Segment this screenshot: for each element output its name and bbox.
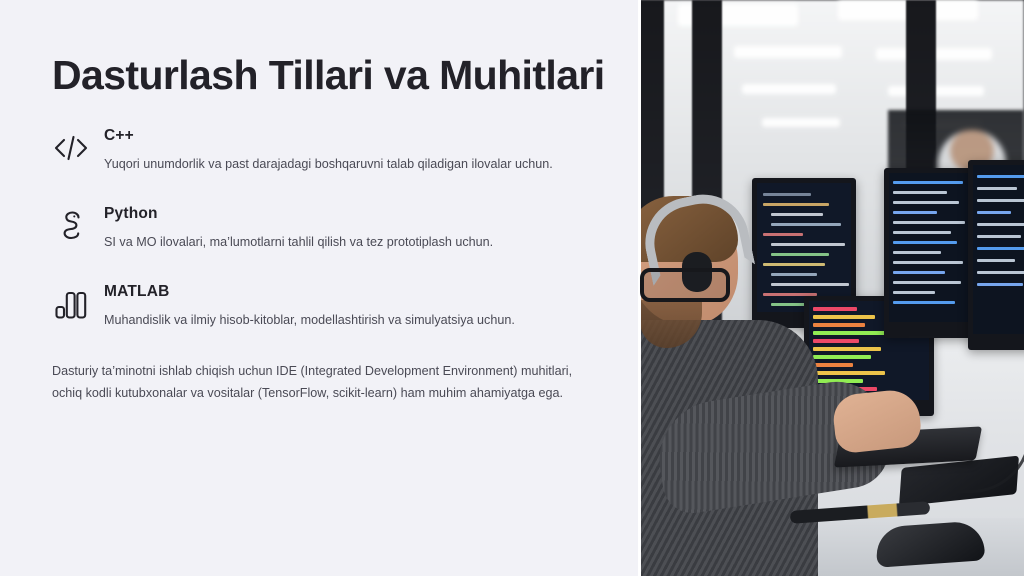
monitor-right-screen xyxy=(889,173,971,322)
ceiling-light xyxy=(742,84,836,94)
snake-icon xyxy=(52,207,90,245)
footnote-paragraph: Dasturiy ta’minotni ishlab chiqish uchun… xyxy=(52,361,592,404)
monitor-right-upper xyxy=(884,168,976,338)
language-list: C++ Yuqori unumdorlik va past darajadagi… xyxy=(52,127,638,331)
presentation-slide: Dasturlash Tillari va Muhitlari C++ Yuqo… xyxy=(0,0,1024,576)
list-item-title: MATLAB xyxy=(104,283,638,300)
person-hand xyxy=(831,388,923,455)
ceiling-light xyxy=(734,46,842,58)
list-item-python: Python SI va MO ilovalari, ma’lumotlarni… xyxy=(52,205,638,253)
list-item-title: Python xyxy=(104,205,638,222)
bar-chart-icon xyxy=(52,285,90,323)
monitor-stand xyxy=(909,336,951,338)
monitor-far-right-screen xyxy=(973,165,1024,334)
ceiling-light xyxy=(888,86,984,96)
page-title: Dasturlash Tillari va Muhitlari xyxy=(52,54,638,97)
list-item-description: Muhandislik va ilmiy hisob-kitoblar, mod… xyxy=(104,310,624,332)
content-column: Dasturlash Tillari va Muhitlari C++ Yuqo… xyxy=(0,0,638,576)
list-item-description: SI va MO ilovalari, ma’lumotlarni tahlil… xyxy=(104,232,624,254)
list-item-description: Yuqori unumdorlik va past darajadagi bos… xyxy=(104,154,624,176)
eyeglasses-icon xyxy=(640,268,730,302)
list-item-title: C++ xyxy=(104,127,638,144)
list-item-matlab: MATLAB Muhandislik va ilmiy hisob-kitobl… xyxy=(52,283,638,331)
monitor-left-screen xyxy=(757,183,851,312)
list-item-cpp: C++ Yuqori unumdorlik va past darajadagi… xyxy=(52,127,638,175)
monitor-far-right xyxy=(968,160,1024,350)
hero-photo xyxy=(638,0,1024,576)
code-brackets-icon xyxy=(52,129,90,167)
ceiling-light xyxy=(762,118,840,127)
